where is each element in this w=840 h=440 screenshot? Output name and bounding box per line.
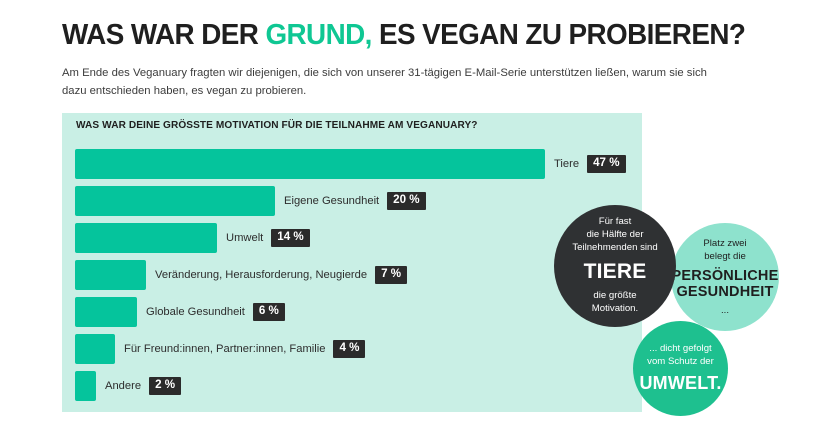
- bar-value-badge: 47 %: [587, 155, 625, 173]
- bar-row: Tiere 47 %: [75, 149, 642, 179]
- bar: [75, 371, 96, 401]
- bar: [75, 260, 146, 290]
- bar-value-badge: 2 %: [149, 377, 181, 395]
- infographic-page: WAS WAR DER GRUND, ES VEGAN ZU PROBIEREN…: [0, 0, 840, 440]
- callout-environment-line-1: ... dicht gefolgt: [647, 343, 714, 356]
- bar-row: Eigene Gesundheit 20 %: [75, 186, 642, 216]
- callout-health-headline-line-2: GESUNDHEIT: [672, 284, 779, 300]
- bar-value-badge: 7 %: [375, 266, 407, 284]
- page-subtitle-line-1: Am Ende des Veganuary fragten wir diejen…: [62, 67, 629, 79]
- bar-label: Eigene Gesundheit: [284, 195, 379, 207]
- page-subtitle: Am Ende des Veganuary fragten wir diejen…: [62, 65, 722, 100]
- callout-animals-line-2: die Hälfte der: [572, 229, 657, 242]
- bar-row: Globale Gesundheit 6 %: [75, 297, 642, 327]
- bar-row: Andere 2 %: [75, 371, 642, 401]
- page-title-part-1: WAS WAR DER: [62, 19, 265, 51]
- callout-circle-health: Platz zwei belegt die PERSÖNLICHE GESUND…: [671, 223, 779, 331]
- bar-label: Umwelt: [226, 232, 263, 244]
- callout-health-line-1: Platz zwei: [703, 238, 746, 251]
- callout-animals-headline: TIERE: [584, 260, 647, 284]
- bar-label: Tiere: [554, 158, 579, 170]
- bar-label: Globale Gesundheit: [146, 306, 245, 318]
- bar: [75, 149, 545, 179]
- callout-health-headline-line-1: PERSÖNLICHE: [672, 268, 779, 284]
- callout-environment-line-2: vom Schutz der: [647, 356, 714, 369]
- page-title: WAS WAR DER GRUND, ES VEGAN ZU PROBIEREN…: [62, 20, 772, 50]
- bar: [75, 223, 217, 253]
- callout-environment-top: ... dicht gefolgt vom Schutz der: [647, 343, 714, 369]
- callout-circle-environment: ... dicht gefolgt vom Schutz der UMWELT.: [633, 321, 728, 416]
- callout-health-ellipsis: ...: [721, 306, 729, 316]
- callout-animals-line-4: die größte: [592, 290, 638, 303]
- bar-value-badge: 4 %: [333, 340, 365, 358]
- page-title-accent: GRUND,: [265, 19, 371, 51]
- callout-animals-bottom: die größte Motivation.: [592, 290, 638, 316]
- callout-animals-line-1: Für fast: [572, 216, 657, 229]
- callout-circle-animals: Für fast die Hälfte der Teilnehmenden si…: [554, 205, 676, 327]
- bar-value-badge: 14 %: [271, 229, 309, 247]
- callout-health-top: Platz zwei belegt die: [703, 238, 746, 264]
- bar-label: Andere: [105, 380, 141, 392]
- bar-value-badge: 6 %: [253, 303, 285, 321]
- bar-value-badge: 20 %: [387, 192, 425, 210]
- chart-title: WAS WAR DEINE GRÖSSTE MOTIVATION FÜR DIE…: [76, 120, 478, 131]
- callout-health-headline: PERSÖNLICHE GESUNDHEIT: [672, 268, 779, 300]
- callout-health-line-2: belegt die: [703, 251, 746, 264]
- bar: [75, 186, 275, 216]
- page-title-part-2: ES VEGAN ZU PROBIEREN?: [372, 19, 745, 51]
- callout-animals-line-3: Teilnehmenden sind: [572, 242, 657, 255]
- callout-animals-line-5: Motivation.: [592, 303, 638, 316]
- bar: [75, 334, 115, 364]
- bar: [75, 297, 137, 327]
- bar-label: Veränderung, Herausforderung, Neugierde: [155, 269, 367, 281]
- callout-environment-headline: UMWELT.: [639, 373, 721, 393]
- bar-row: Für Freund:innen, Partner:innen, Familie…: [75, 334, 642, 364]
- bar-label: Für Freund:innen, Partner:innen, Familie: [124, 343, 325, 355]
- callout-animals-top: Für fast die Hälfte der Teilnehmenden si…: [572, 216, 657, 255]
